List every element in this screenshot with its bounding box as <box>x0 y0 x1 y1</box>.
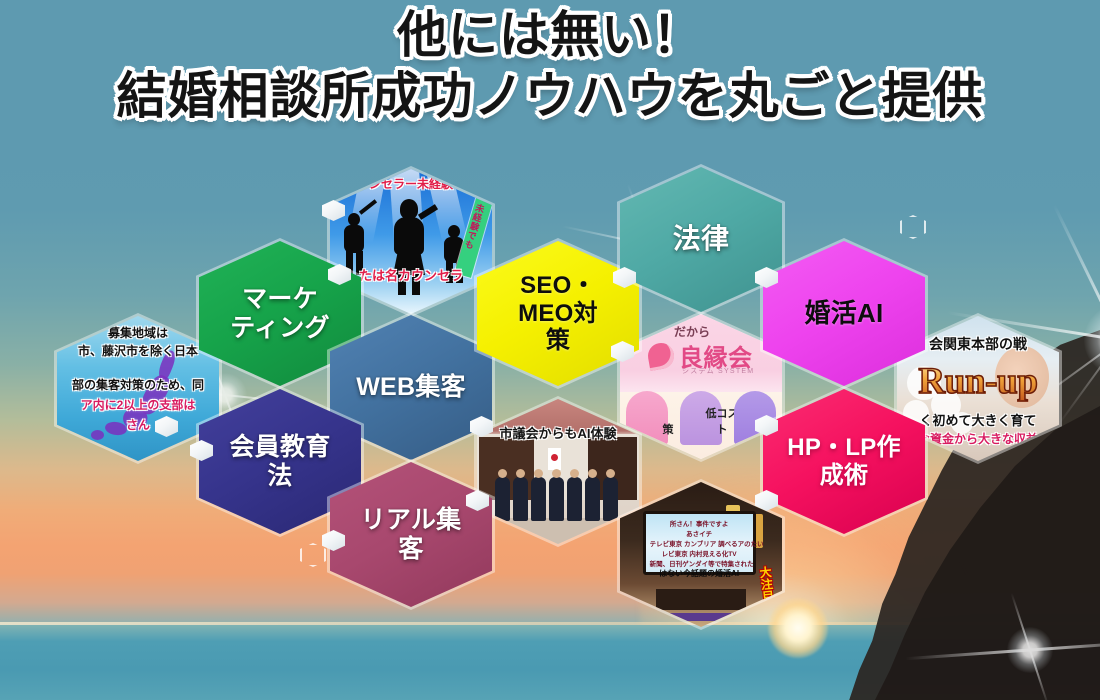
title-line-1: 他には無い！ <box>0 6 1100 65</box>
japan-line-2: 市、藤沢市を除く日本 <box>57 344 219 359</box>
tv-line-5: 新聞、日刊ゲンダイ等で特集された <box>650 558 749 568</box>
hex-real-acquisition-label: リアル集 客 <box>353 506 470 564</box>
council-caption: 市議会からもAI体験 <box>477 427 639 442</box>
tv-screen: 所さん！事件ですよ あさイチ テレビ東京 カンブリア 調べるアのたい レビ東京 … <box>643 511 756 575</box>
stage-ribbon-text: 未経験でも <box>462 198 489 251</box>
hex-ryoenkai[interactable]: だから 良縁会 システム SYSTEM 策 低コスト だ <box>620 314 782 459</box>
runup-logo: Run-up <box>897 360 1059 403</box>
hex-japan-map[interactable]: 募集地域は 市、藤沢市を除く日本 部の集客対策のため、同 ア内に2以上の支部は … <box>57 316 219 461</box>
tv-line-4: レビ東京 内村見える化TV <box>650 548 749 558</box>
connector-ring-icon <box>900 215 926 239</box>
hex-hp-lp-label: HP・LP作 成術 <box>779 434 908 490</box>
japan-line-5: さん <box>57 418 219 433</box>
hex-seo-meo-label: SEO・ MEO対 策 <box>510 272 606 355</box>
poster-stage: 他には無い！ 結婚相談所成功ノウハウを丸ごと提供 募集地域は 市、藤沢市を除く日… <box>0 0 1100 700</box>
hex-city-council[interactable]: 市議会からもAI体験 <box>477 399 639 544</box>
hex-member-education-label: 会員教育 法 <box>221 433 338 491</box>
ryoenkai-mark-icon <box>646 340 676 370</box>
tv-vertical-text: 大注目！ <box>757 565 779 615</box>
tv-line-3: テレビ東京 カンブリア 調べるアのたい <box>650 538 749 548</box>
tv-line-6: はない今話題の婚活AI <box>650 568 749 579</box>
stage-caption-top: ウンセラー未経験で <box>330 175 492 192</box>
tv-line-2: あさイチ <box>650 528 749 538</box>
hex-seo-meo[interactable]: SEO・ MEO対 策 <box>477 241 639 386</box>
title-line-2: 結婚相談所成功ノウハウを丸ごと提供 <box>0 67 1100 126</box>
hex-law[interactable]: 法律 <box>620 167 782 312</box>
japan-line-3: 部の集客対策のため、同 <box>57 378 219 393</box>
hex-web-label: WEB集客 <box>348 373 474 402</box>
hex-marketing-label: マーケ ティング <box>222 285 338 343</box>
hex-law-label: 法律 <box>665 223 738 255</box>
ryoenkai-brand-sub: システム SYSTEM <box>682 366 754 376</box>
hex-konkatsu-ai-label: 婚活AI <box>796 298 891 328</box>
connector-ring-icon <box>300 543 326 567</box>
page-title: 他には無い！ 結婚相談所成功ノウハウを丸ごと提供 <box>0 6 1100 126</box>
japan-line-4: ア内に2以上の支部は <box>57 398 219 413</box>
tv-line-1: 所さん！事件ですよ <box>650 518 749 528</box>
